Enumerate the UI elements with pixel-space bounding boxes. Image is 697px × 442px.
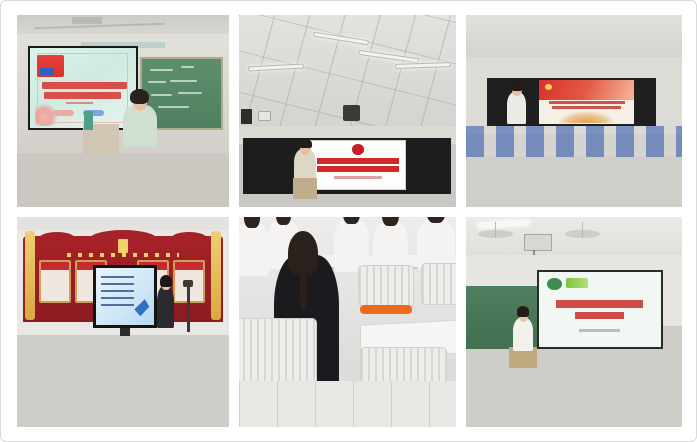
speaker-body bbox=[123, 105, 157, 147]
photo-tile-top-left[interactable] bbox=[17, 15, 229, 207]
student-white-1 bbox=[239, 221, 269, 276]
display-stand bbox=[120, 328, 130, 336]
hair bbox=[276, 217, 292, 225]
wall-arch-left bbox=[39, 232, 75, 245]
gold-pillar-right bbox=[211, 231, 221, 321]
projection-screen bbox=[537, 270, 663, 350]
photo-tile-bottom-center[interactable] bbox=[239, 217, 456, 427]
speaker-hair bbox=[160, 275, 172, 288]
wall-speaker bbox=[241, 109, 252, 124]
speaker-hair bbox=[130, 89, 149, 104]
photo-tile-bottom-left[interactable] bbox=[17, 217, 229, 427]
ceiling-vent bbox=[72, 17, 102, 24]
slide-ribbon bbox=[566, 278, 588, 288]
hair bbox=[244, 217, 261, 228]
camera-tripod bbox=[187, 286, 190, 332]
photo-tile-top-center[interactable] bbox=[239, 15, 456, 207]
hair bbox=[343, 217, 360, 224]
ceiling-beam bbox=[34, 23, 165, 29]
floor bbox=[239, 381, 456, 427]
slide-subtitle bbox=[66, 102, 94, 105]
hair bbox=[382, 217, 399, 226]
slide-title-line-2 bbox=[575, 312, 624, 320]
youth-54-badge bbox=[37, 55, 64, 77]
projection-screen bbox=[28, 46, 138, 130]
gold-dot-row bbox=[67, 253, 179, 256]
slide-title-line-1 bbox=[317, 158, 399, 164]
university-emblem-icon bbox=[547, 278, 562, 290]
ponytail bbox=[300, 267, 307, 311]
chair-back-right bbox=[421, 263, 456, 305]
student-white-5 bbox=[417, 217, 456, 270]
chair-back-mid bbox=[358, 265, 414, 307]
speaker-hair bbox=[517, 306, 529, 317]
slide-footer-text bbox=[579, 329, 620, 332]
speaker-body bbox=[513, 318, 532, 352]
photo-collage bbox=[0, 0, 697, 442]
dove-graphic-icon bbox=[134, 299, 149, 316]
hair bbox=[427, 217, 446, 223]
slide-title-line-1 bbox=[556, 300, 644, 308]
chair-seat-mid bbox=[360, 305, 412, 313]
slide-footer-text bbox=[334, 176, 382, 178]
speaker-hair bbox=[511, 81, 523, 91]
slide-title-line-1 bbox=[549, 101, 625, 105]
surveillance-camera-icon bbox=[258, 111, 271, 121]
speaker-body bbox=[507, 92, 526, 125]
photo-tile-bottom-right[interactable] bbox=[466, 217, 683, 427]
slide-title-line-2 bbox=[552, 106, 621, 110]
slide-illustration bbox=[35, 103, 58, 126]
slide-title-line-2 bbox=[317, 166, 399, 172]
wall-arch-right bbox=[171, 232, 207, 245]
interactive-display bbox=[93, 265, 157, 328]
student-white-3 bbox=[334, 217, 369, 272]
water-bottle bbox=[84, 111, 94, 130]
speaker-hair bbox=[299, 139, 312, 149]
collage-grid bbox=[17, 15, 682, 427]
slide-title-line-1 bbox=[42, 82, 127, 89]
ceiling-projector bbox=[524, 234, 552, 251]
party-emblem-icon bbox=[352, 144, 363, 155]
projection-screen bbox=[539, 80, 634, 124]
photo-tile-top-right[interactable] bbox=[466, 15, 683, 207]
floor-tiles bbox=[239, 381, 456, 427]
slide bbox=[30, 48, 136, 128]
red-flag-graphic bbox=[539, 80, 634, 100]
hammer-sickle-icon bbox=[118, 239, 128, 253]
ceiling-fan-2 bbox=[565, 230, 600, 238]
lectern bbox=[293, 178, 317, 199]
student-desks bbox=[466, 126, 683, 157]
display-screen bbox=[310, 140, 405, 190]
slide-text-block bbox=[101, 276, 134, 310]
speaker-body bbox=[157, 286, 174, 328]
wall-panel-1 bbox=[39, 260, 71, 303]
ceiling-projector bbox=[343, 105, 360, 120]
display-screen bbox=[96, 268, 154, 325]
gold-pillar-left bbox=[25, 231, 35, 321]
ceiling-fan-1 bbox=[478, 230, 513, 238]
slide-illustration bbox=[558, 111, 615, 122]
slide-title-line-2 bbox=[44, 92, 120, 99]
